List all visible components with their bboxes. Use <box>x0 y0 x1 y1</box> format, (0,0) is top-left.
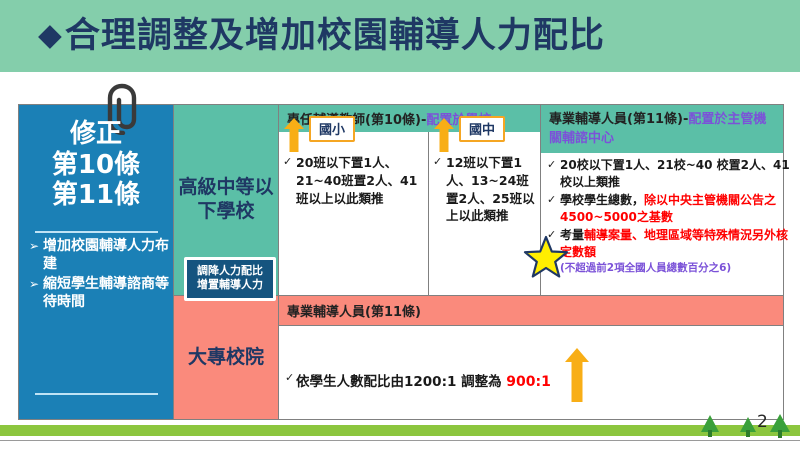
slide-canvas: ◆合理調整及增加校園輔導人力配比 修正 第10條 第11條 ➢ 增加校園輔導人力… <box>0 0 800 450</box>
tag-elementary: 國小 <box>309 116 355 142</box>
list-item: ✓ 20校以下置1人、21校~40 校置2人、41校以上類推 <box>547 157 793 191</box>
professional-header-main: 專業輔導人員(第11條)- <box>549 112 688 127</box>
segment-highlight: 900:1 <box>506 374 551 390</box>
check-icon: ✓ <box>285 370 296 390</box>
check-icon: ✓ <box>433 154 446 225</box>
professional-header: 專業輔導人員(第11條)-配置於主管機關輔諮中心 <box>541 105 783 153</box>
junior-high-bullet-list: ✓ 12班以下置1人、13~24班置2人、25班以上以此類推 <box>433 154 537 226</box>
check-icon: ✓ <box>283 154 296 207</box>
amendment-heading: 修正 第10條 第11條 <box>19 119 173 211</box>
lower-content-cell: ✓ 依學生人數配比由1200:1 調整為 900:1 <box>279 326 783 419</box>
status-badge-line-0: 調降人力配比 <box>187 264 273 278</box>
teacher-header-main: 專任輔導教師(第10條)- <box>287 109 426 128</box>
elementary-cell: 國小 ✓ 20班以下置1人、21~40班置2人、41班以上以此類推 <box>279 132 429 295</box>
arrow-up-icon <box>433 118 455 152</box>
level-lower-cell: 大專校院 <box>174 296 278 419</box>
list-item: ✓ 考量輔導案量、地理區域等特殊情況另外核定數額 <box>547 227 793 261</box>
list-item-label: 縮短學生輔導諮商等待時間 <box>43 275 169 312</box>
divider-bottom <box>35 393 158 395</box>
arrow-up-icon <box>283 118 305 152</box>
diamond-bullet-icon: ◆ <box>38 17 63 53</box>
divider-top <box>35 231 158 233</box>
list-item: ✓ 20班以下置1人、21~40班置2人、41班以上以此類推 <box>283 154 423 207</box>
professional-bullet-list: ✓ 20校以下置1人、21校~40 校置2人、41校以上類推 ✓ 學校學生總數，… <box>547 157 793 277</box>
arrow-bullet-icon: ➢ <box>29 237 43 274</box>
content-table: 修正 第10條 第11條 ➢ 增加校園輔導人力布建 ➢ 縮短學生輔導諮商等待時間… <box>18 104 784 420</box>
list-item: ➢ 增加校園輔導人力布建 <box>29 237 169 274</box>
grass-strip <box>0 425 800 436</box>
list-item: ✓ 學校學生總數，除以中央主管機關公告之4500~5000之基數 <box>547 192 793 226</box>
lower-detail-block: 專業輔導人員(第11條) ✓ 依學生人數配比由1200:1 調整為 900:1 <box>279 296 783 419</box>
list-item-label: 依學生人數配比由1200:1 調整為 900:1 <box>296 370 551 390</box>
page-number: 2 <box>757 412 768 432</box>
list-item-label: 增加校園輔導人力布建 <box>43 237 169 274</box>
title-band: ◆合理調整及增加校園輔導人力配比 <box>0 0 800 72</box>
list-item-label: 20校以下置1人、21校~40 校置2人、41校以上類推 <box>560 157 793 191</box>
arrow-bullet-icon: ➢ <box>29 275 43 312</box>
elementary-bullet-list: ✓ 20班以下置1人、21~40班置2人、41班以上以此類推 <box>283 154 423 208</box>
amendment-heading-line-0: 修正 <box>19 119 173 150</box>
list-item: ✓ 12班以下置1人、13~24班置2人、25班以上以此類推 <box>433 154 537 225</box>
footer-divider <box>0 440 800 441</box>
page-title: ◆合理調整及增加校園輔導人力配比 <box>38 7 778 58</box>
status-badge-line-1: 增置輔導人力 <box>187 278 273 292</box>
list-item-label: 20班以下置1人、21~40班置2人、41班以上以此類推 <box>296 154 423 207</box>
level-upper-label: 高級中等以下學校 <box>174 176 278 224</box>
list-item-label: 12班以下置1人、13~24班置2人、25班以上以此類推 <box>446 154 537 225</box>
lower-header: 專業輔導人員(第11條) <box>279 296 783 326</box>
level-lower-label: 大專校院 <box>188 346 264 370</box>
details-column: 專任輔導教師(第10條)-配置於學校 專業輔導人員(第11條)-配置於主管機關輔… <box>279 105 783 419</box>
check-icon: ✓ <box>547 157 560 191</box>
segment-highlight: 輔導案量、地理區域等特殊情況另外核定數額 <box>560 228 788 259</box>
tree-group <box>700 414 795 442</box>
star-icon <box>523 235 569 285</box>
list-item-label: 學校學生總數，除以中央主管機關公告之4500~5000之基數 <box>560 192 793 226</box>
list-item: ✓ 依學生人數配比由1200:1 調整為 900:1 <box>285 370 551 390</box>
tag-junior-high: 國中 <box>459 116 505 142</box>
segment-plain: 依學生人數配比由1200:1 調整為 <box>296 374 506 390</box>
check-icon: ✓ <box>547 192 560 226</box>
amendment-panel: 修正 第10條 第11條 ➢ 增加校園輔導人力布建 ➢ 縮短學生輔導諮商等待時間 <box>19 105 174 419</box>
arrow-up-icon <box>564 348 590 402</box>
school-level-column: 高級中等以下學校 大專校院 調降人力配比 增置輔導人力 <box>174 105 279 419</box>
amendment-heading-line-1: 第10條 <box>19 150 173 181</box>
lower-header-label: 專業輔導人員(第11條) <box>287 301 421 320</box>
list-item: ➢ 縮短學生輔導諮商等待時間 <box>29 275 169 312</box>
professional-note-row: (不超過前2項全國人員總數百分之6) <box>547 262 793 276</box>
page-title-text: 合理調整及增加校園輔導人力配比 <box>65 16 605 56</box>
professional-cell: ✓ 20校以下置1人、21校~40 校置2人、41校以上類推 ✓ 學校學生總數，… <box>541 153 783 295</box>
segment-plain: 學校學生總數， <box>560 193 644 207</box>
professional-note: (不超過前2項全國人員總數百分之6) <box>560 262 731 276</box>
amendment-heading-line-2: 第11條 <box>19 180 173 211</box>
upper-detail-block: 專任輔導教師(第10條)-配置於學校 專業輔導人員(第11條)-配置於主管機關輔… <box>279 105 783 296</box>
amendment-bullet-list: ➢ 增加校園輔導人力布建 ➢ 縮短學生輔導諮商等待時間 <box>29 237 169 313</box>
list-item-label: 考量輔導案量、地理區域等特殊情況另外核定數額 <box>560 227 793 261</box>
status-badge: 調降人力配比 增置輔導人力 <box>184 257 276 301</box>
